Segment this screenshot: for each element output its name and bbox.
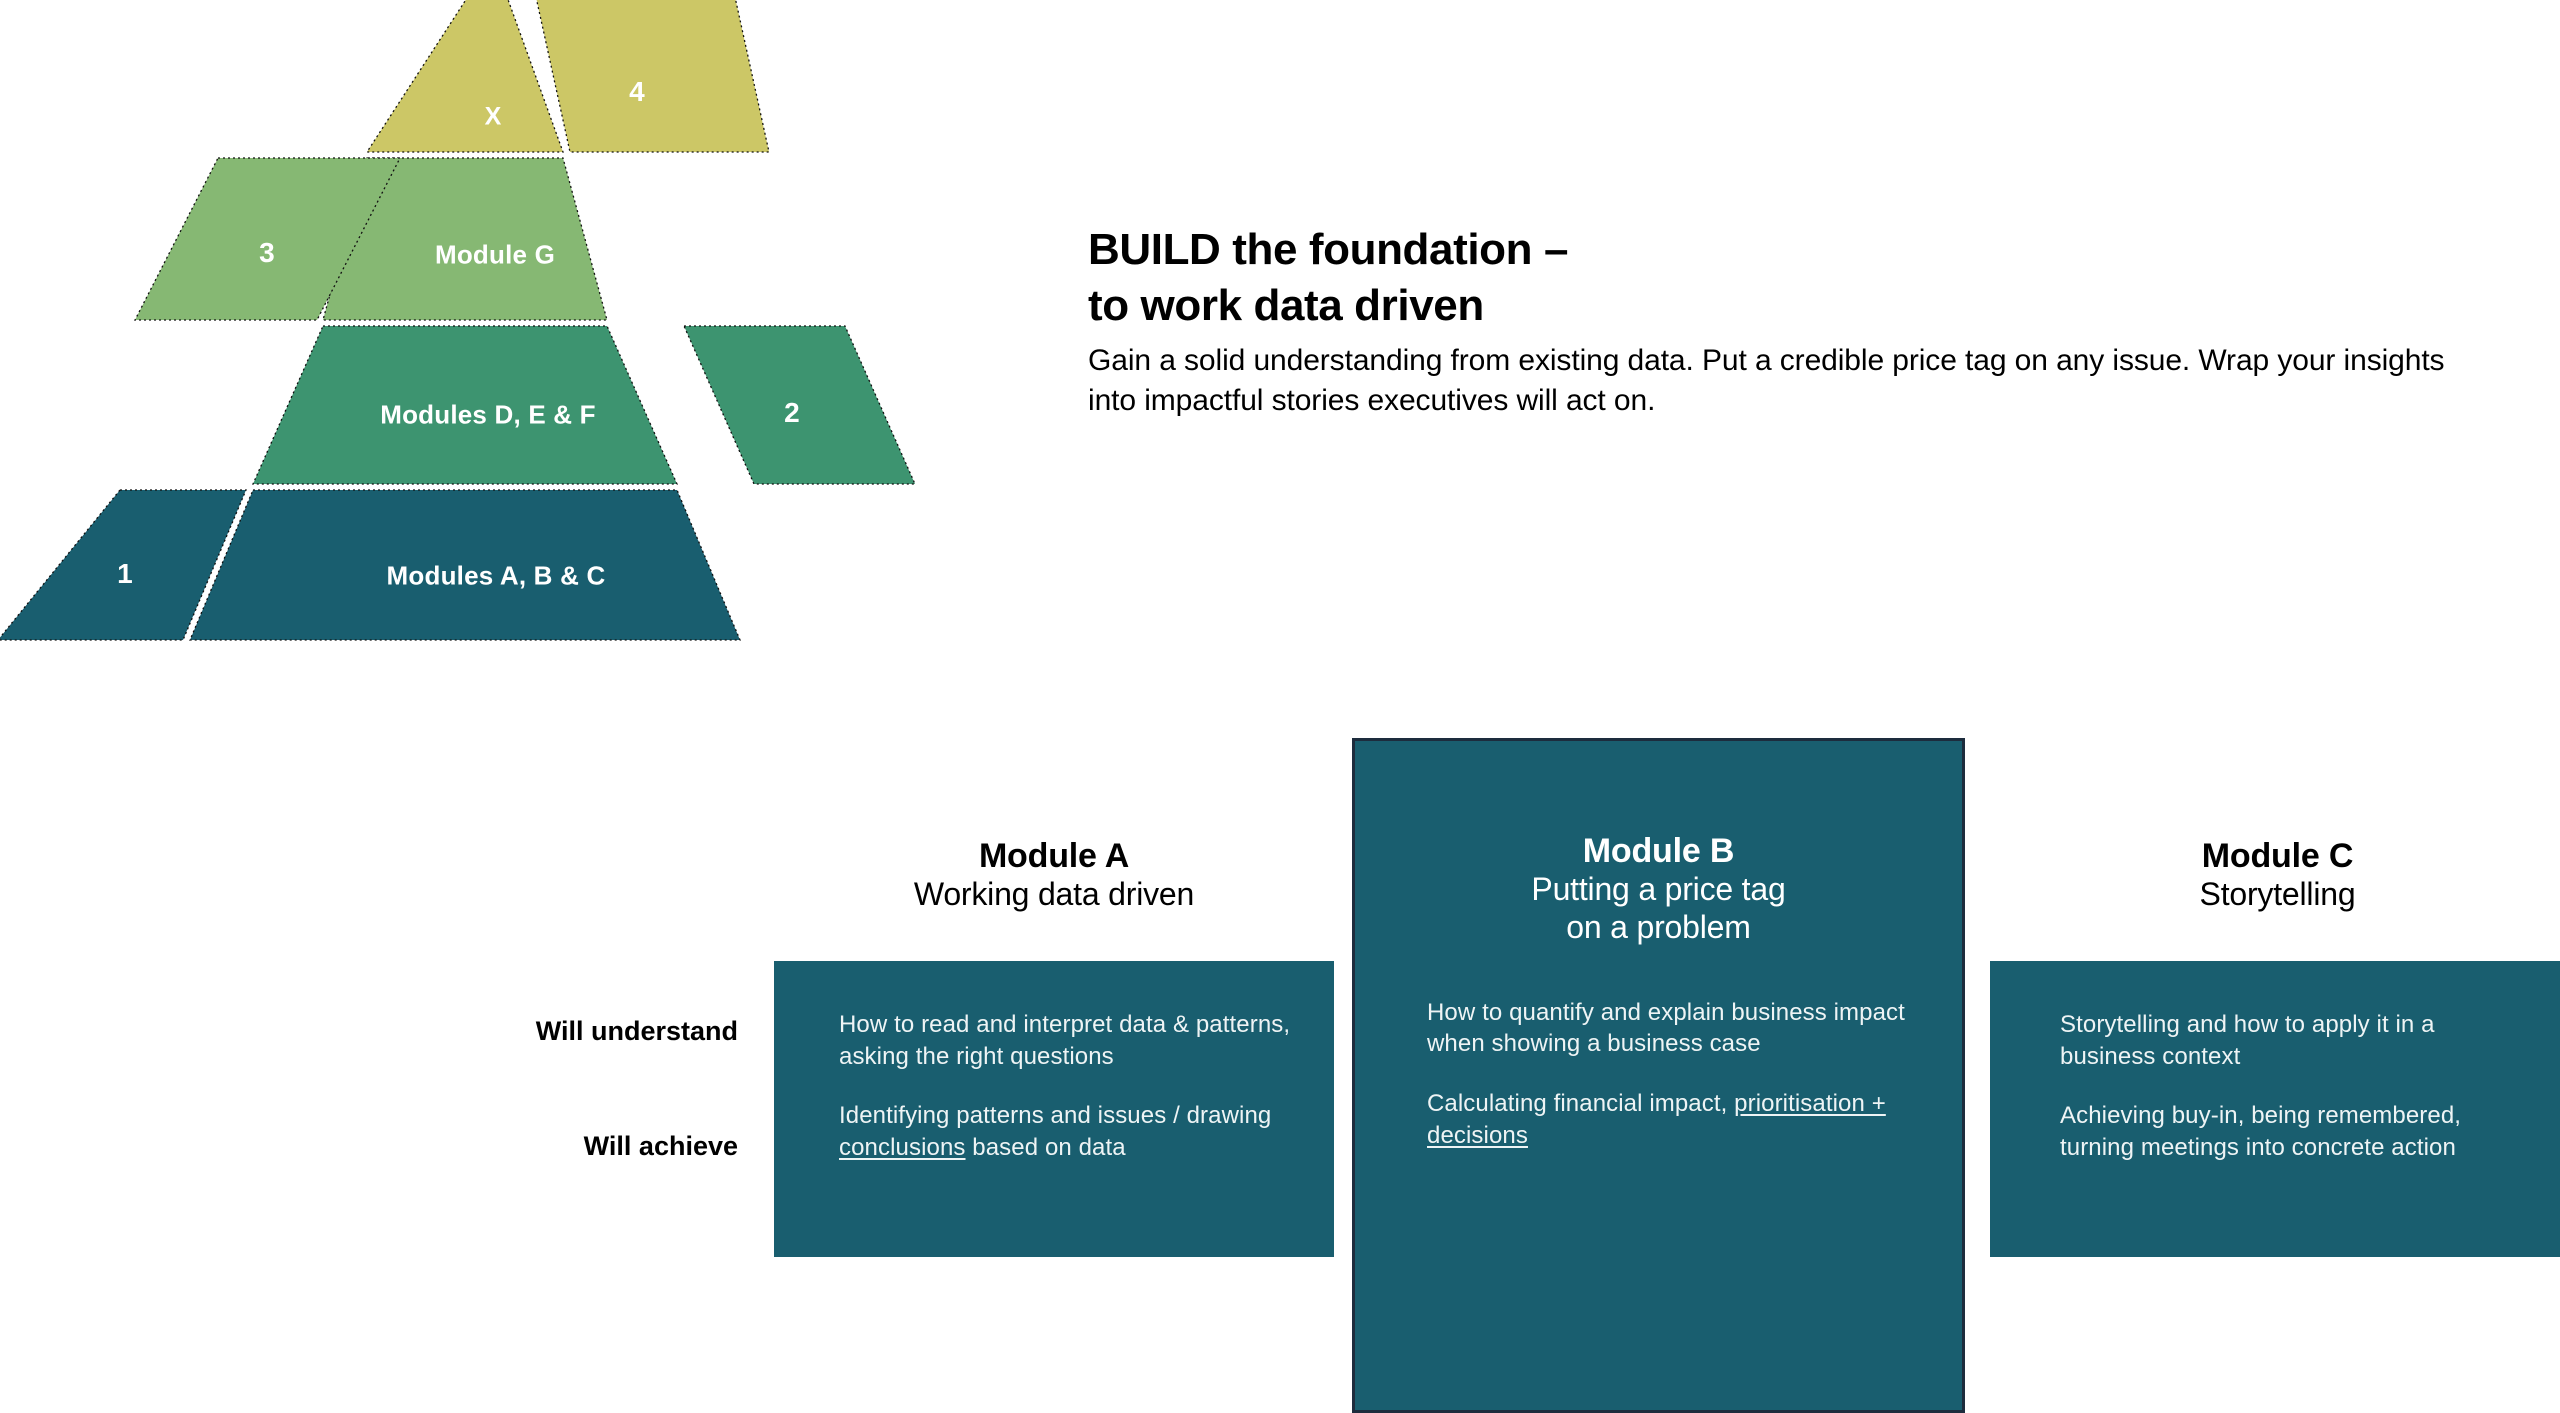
row-label-will-understand: Will understand: [262, 1016, 738, 1047]
module-a-achieve-text: Identifying patterns and issues / drawin…: [839, 1100, 1294, 1163]
module-c-achieve-text: Achieving buy-in, being remembered, turn…: [2060, 1100, 2529, 1163]
pyramid-level-1-label: Modules A, B & C: [387, 561, 606, 592]
module-card-a[interactable]: Module A Working data driven How to read…: [774, 836, 1334, 1257]
pyramid-level-4-apex[interactable]: [367, 0, 563, 152]
module-b-body: How to quantify and explain business imp…: [1355, 997, 1962, 1152]
headline-title-line-1: BUILD the foundation –: [1088, 225, 1568, 274]
module-card-c[interactable]: Module C Storytelling Storytelling and h…: [1990, 836, 2560, 1257]
module-a-subtitle: Working data driven: [774, 876, 1334, 914]
pyramid-diagram: X 4 Module G 3 Modules D, E & F 2 Module…: [0, 0, 960, 660]
module-c-body: Storytelling and how to apply it in a bu…: [1990, 961, 2560, 1257]
module-a-body: How to read and interpret data & pattern…: [774, 961, 1334, 1257]
module-c-understand-text: Storytelling and how to apply it in a bu…: [2060, 1009, 2529, 1072]
pyramid-level-4-side[interactable]: [527, 0, 769, 152]
module-c-subtitle: Storytelling: [1990, 876, 2560, 914]
module-a-achieve-post: based on data: [966, 1134, 1126, 1161]
pyramid-level-1-number: 1: [117, 558, 133, 590]
module-c-heading: Module C Storytelling: [1990, 836, 2560, 914]
pyramid-level-2-number: 2: [784, 397, 800, 429]
module-a-heading: Module A Working data driven: [774, 836, 1334, 914]
pyramid-level-4-number: 4: [629, 76, 645, 108]
module-b-subtitle-line-1: Putting a price tag: [1531, 871, 1785, 907]
row-label-will-achieve: Will achieve: [262, 1131, 738, 1162]
module-b-understand-text: How to quantify and explain business imp…: [1427, 997, 1926, 1060]
module-b-achieve-pre: Calculating financial impact,: [1427, 1090, 1734, 1117]
module-b-heading: Module B Putting a price tag on a proble…: [1355, 741, 1962, 947]
pyramid-level-3-label: Module G: [435, 240, 555, 271]
module-a-achieve-link[interactable]: conclusions: [839, 1134, 966, 1161]
headline-block: BUILD the foundation – to work data driv…: [1088, 222, 2488, 420]
module-b-achieve-text: Calculating financial impact, prioritisa…: [1427, 1088, 1926, 1151]
module-b-subtitle-line-2: on a problem: [1566, 909, 1750, 945]
pyramid-level-4-label: X: [485, 103, 502, 132]
module-a-title: Module A: [774, 836, 1334, 876]
module-a-understand-text: How to read and interpret data & pattern…: [839, 1009, 1294, 1072]
module-b-title: Module B: [1355, 831, 1962, 871]
module-card-b[interactable]: Module B Putting a price tag on a proble…: [1352, 738, 1965, 1413]
headline-title-line-2: to work data driven: [1088, 281, 1484, 330]
pyramid-level-2-label: Modules D, E & F: [380, 400, 596, 431]
module-c-title: Module C: [1990, 836, 2560, 876]
headline-body: Gain a solid understanding from existing…: [1088, 341, 2488, 421]
pyramid-level-3-number: 3: [259, 237, 275, 269]
module-a-achieve-pre: Identifying patterns and issues / drawin…: [839, 1102, 1271, 1129]
headline-title: BUILD the foundation – to work data driv…: [1088, 222, 2488, 335]
module-b-subtitle: Putting a price tag on a problem: [1355, 871, 1962, 947]
